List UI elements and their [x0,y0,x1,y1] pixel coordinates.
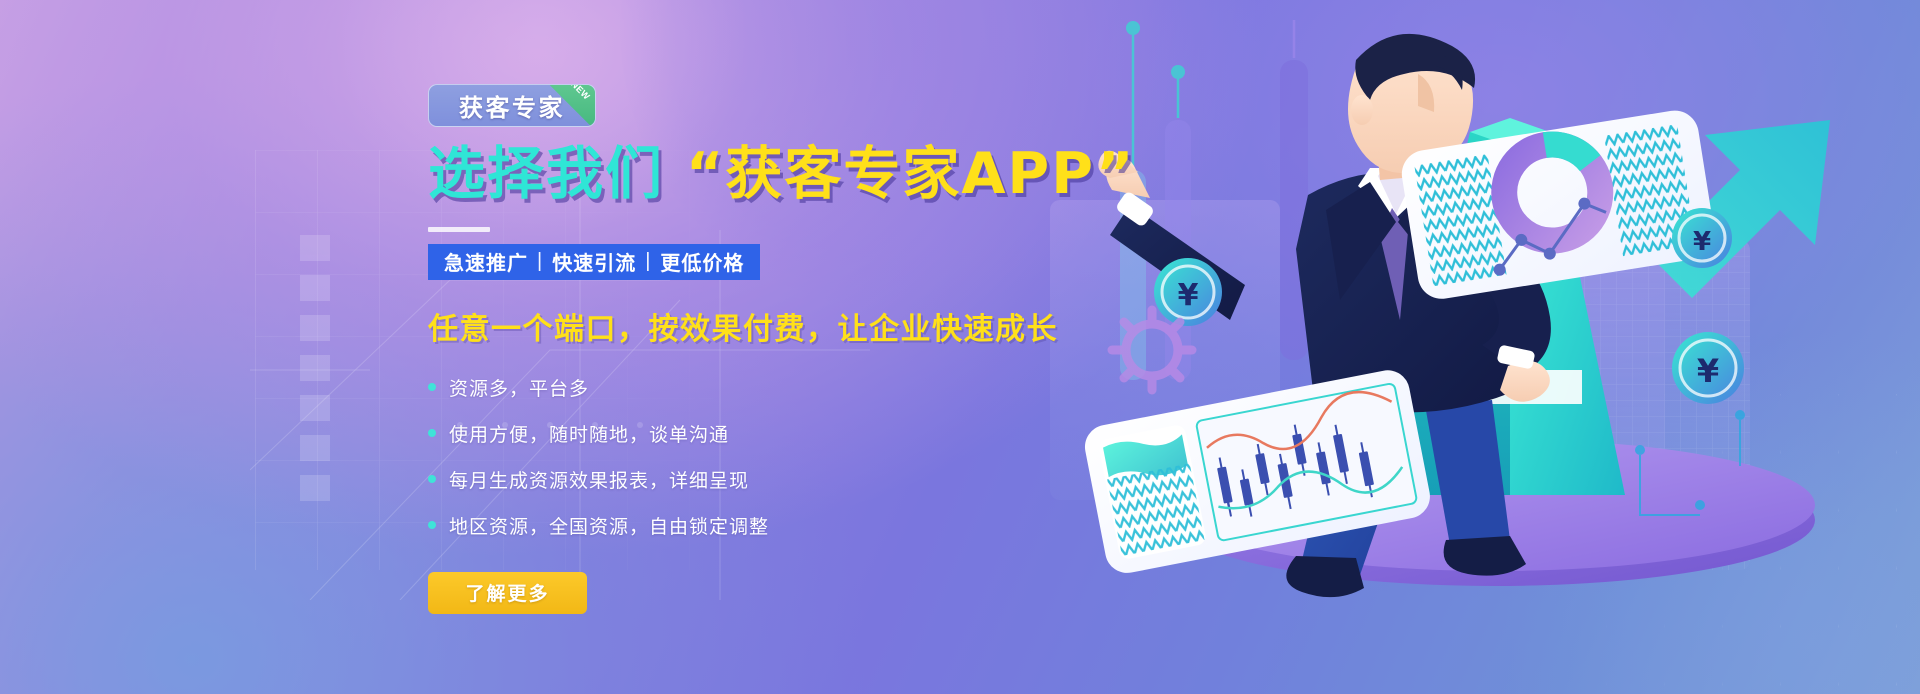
list-item: 使用方便，随时随地，谈单沟通 [428,420,1128,447]
list-item: 资源多，平台多 [428,374,1128,401]
product-badge-wrapper: 获客专家 NEW [428,84,596,127]
divider-rule [428,227,490,232]
feature-strip: 急速推广 | 快速引流 | 更低价格 [428,244,760,280]
feature-strip-item-1: 急速推广 [444,247,528,276]
page-title: 选择我们 “获客专家APP” [428,143,1128,207]
yen-coin-label-2: ¥ [1697,352,1719,390]
tagline: 任意一个端口，按效果付费，让企业快速成长 [428,304,1128,348]
list-item-label: 地区资源，全国资源，自由锁定调整 [449,512,769,539]
bullet-dot-icon [428,429,436,437]
bullet-dot-icon [428,383,436,391]
product-badge: 获客专家 NEW [428,84,596,127]
headline-highlight: “获客专家APP” [686,141,1136,207]
new-ribbon-label: NEW [569,84,592,102]
headline-primary: 选择我们 [428,141,664,207]
hero-illustration: A [1040,0,1920,694]
yen-coin-icon-3: ¥ [1672,208,1732,268]
feature-strip-item-3: 更低价格 [660,247,744,276]
feature-strip-item-2: 快速引流 [552,247,636,276]
yen-coin-icon-2: ¥ [1672,332,1744,404]
yen-coin-icon-1: ¥ [1154,258,1222,326]
list-item-label: 使用方便，随时随地，谈单沟通 [449,420,729,447]
bullet-dot-icon [428,475,436,483]
banner-content: 获客专家 NEW 选择我们 “获客专家APP” 急速推广 | 快速引流 | 更低… [428,84,1128,614]
bullet-dot-icon [428,521,436,529]
list-item-label: 每月生成资源效果报表，详细呈现 [449,466,749,493]
learn-more-button[interactable]: 了解更多 [428,572,587,614]
yen-coin-label-1: ¥ [1178,278,1199,313]
feature-strip-separator-2: | [636,250,660,273]
feature-strip-separator-1: | [528,250,552,273]
list-item: 每月生成资源效果报表，详细呈现 [428,466,1128,493]
feature-list: 资源多，平台多 使用方便，随时随地，谈单沟通 每月生成资源效果报表，详细呈现 地… [428,374,1128,539]
product-badge-label: 获客专家 [459,88,565,123]
list-item-label: 资源多，平台多 [449,374,589,401]
background-film-strip [300,235,330,505]
yen-coin-label-3: ¥ [1693,227,1711,257]
list-item: 地区资源，全国资源，自由锁定调整 [428,512,1128,539]
promo-banner: 获客专家 NEW 选择我们 “获客专家APP” 急速推广 | 快速引流 | 更低… [0,0,1920,694]
